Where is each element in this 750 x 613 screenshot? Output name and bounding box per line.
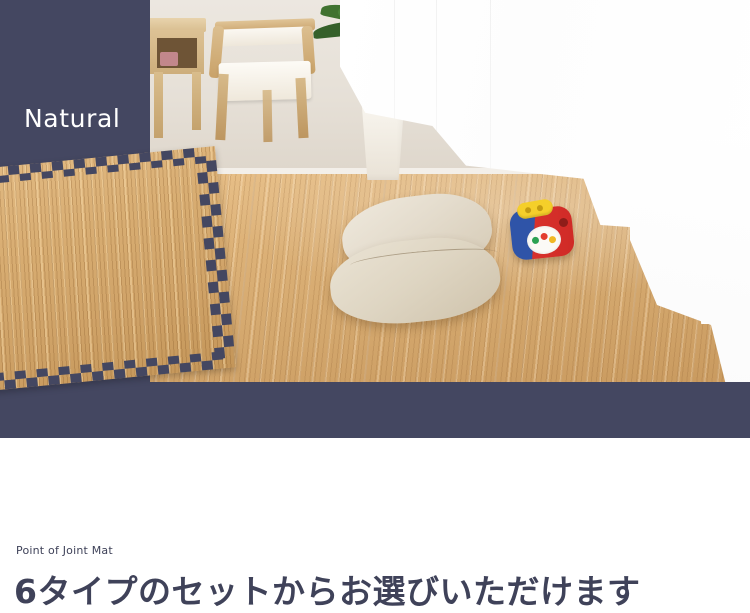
mat-tab — [212, 351, 224, 360]
mat-tab — [92, 371, 104, 381]
shape-sorter-toy-icon — [511, 200, 573, 258]
mat-tab — [204, 238, 215, 250]
mat-tab — [210, 204, 221, 216]
mat-tab — [8, 165, 20, 175]
mat-tab — [26, 377, 38, 387]
mat-tab — [197, 172, 208, 184]
mat-tab — [161, 150, 173, 160]
mat-tab — [199, 194, 210, 206]
mat-tab — [139, 152, 151, 162]
mat-tab — [20, 173, 32, 181]
mat-tab — [41, 171, 53, 179]
mat-tab — [0, 175, 9, 183]
mat-tab — [4, 379, 16, 389]
page-root: Natural Point of Joint Mat 6タイプのセットからお選び… — [0, 0, 750, 611]
mat-tab — [146, 358, 158, 367]
mat-tab — [70, 373, 82, 383]
mat-tab — [107, 164, 119, 172]
mat-tab — [219, 291, 230, 303]
mat-tab — [215, 248, 226, 260]
mat-tab — [223, 335, 234, 347]
mat-tab — [190, 353, 202, 362]
mat-tab — [95, 157, 107, 167]
section-heading: 6タイプのセットからお選びいただけます — [14, 565, 640, 613]
mat-tab — [114, 369, 126, 379]
mat-tab — [14, 370, 26, 379]
variant-name-label: Natural — [24, 104, 120, 133]
mat-tab — [195, 156, 207, 164]
mat-tab — [73, 159, 85, 169]
mat-tab — [208, 281, 219, 293]
mat-tab — [201, 360, 213, 370]
mat-tab — [208, 182, 219, 194]
mat-tab — [210, 303, 221, 315]
mat-tab — [102, 362, 114, 371]
mat-tab — [158, 365, 170, 375]
mat-tab — [217, 270, 228, 282]
mat-tab — [58, 366, 70, 375]
mat-tab — [129, 162, 141, 170]
section-eyebrow: Point of Joint Mat — [16, 544, 113, 557]
mat-tab — [80, 364, 92, 373]
room-photo — [150, 0, 750, 382]
mat-tab — [151, 160, 163, 168]
mat-tab — [183, 148, 195, 158]
mat-tab — [36, 368, 48, 377]
mat-tab — [63, 169, 75, 177]
mat-tab — [221, 313, 232, 325]
mat-tab — [212, 325, 223, 337]
mat-tab — [136, 367, 148, 377]
mat-tab — [117, 154, 129, 164]
mat-tab — [212, 226, 223, 238]
mat-tab — [206, 160, 217, 172]
mat-tab — [52, 161, 64, 171]
mat-tab — [30, 163, 42, 173]
mat-tab — [206, 260, 217, 272]
mat-tab — [48, 375, 60, 385]
mat-tab — [168, 356, 180, 365]
mat-tab — [201, 216, 212, 228]
mat-tab — [85, 167, 97, 175]
mat-tab — [124, 360, 136, 369]
mat-tab — [173, 158, 185, 166]
joint-mat-swatch — [0, 146, 236, 392]
wooden-chair — [205, 12, 323, 140]
mat-tab — [179, 362, 191, 372]
side-table — [150, 18, 208, 138]
